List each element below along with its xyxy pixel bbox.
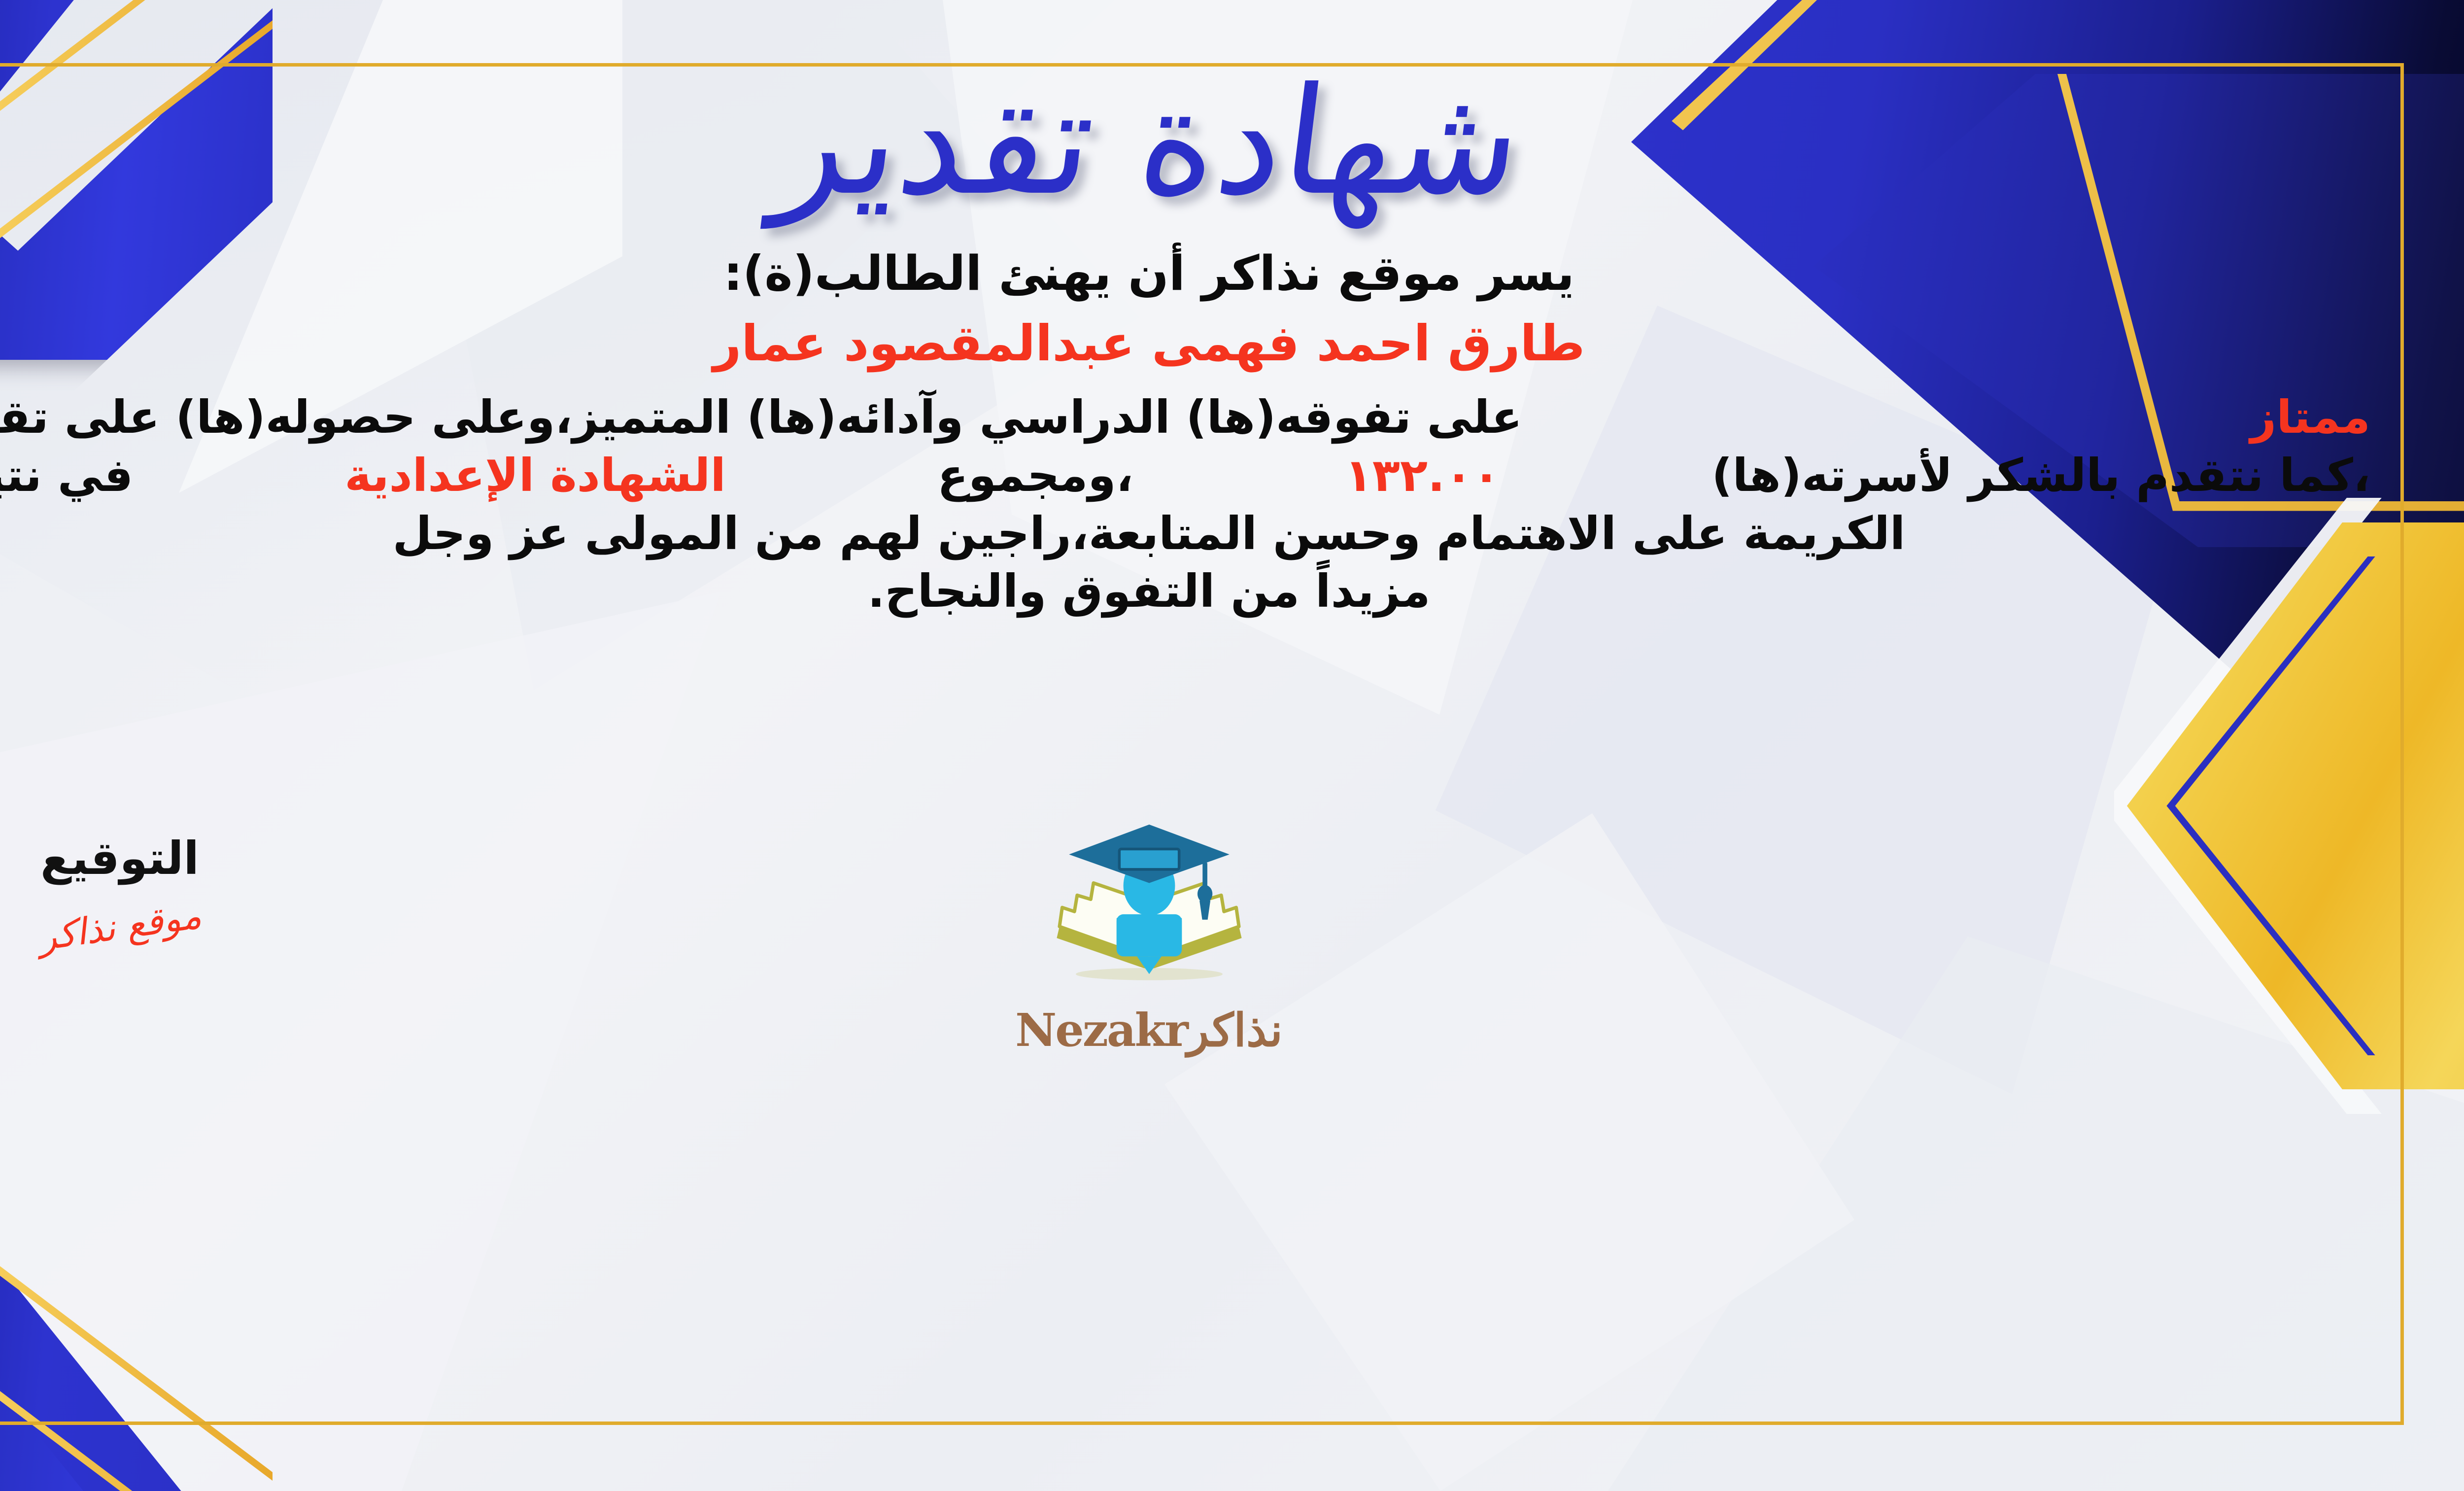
lead-line: يسر موقع نذاكر أن يهنئ الطالب(ة): [0, 245, 2390, 301]
grade-value: ممتاز [2250, 388, 2370, 447]
certificate-canvas: شهادة تقدير يسر موقع نذاكر أن يهنئ الطال… [0, 0, 2464, 1491]
body-line-1-text: على تفوقه(ها) الدراسي وآدائه(ها) المتميز… [0, 388, 1522, 447]
body-line-1: ممتاز على تفوقه(ها) الدراسي وآدائه(ها) ا… [0, 388, 2370, 447]
gold-accent-tick [2401, 507, 2404, 635]
brand-logo: نذاكرNezakr [0, 812, 2390, 1057]
certificate-type-value: الشهادة الإعدادية [344, 447, 726, 505]
certificate-content: شهادة تقدير يسر موقع نذاكر أن يهنئ الطال… [0, 63, 2390, 1422]
gold-accent-tick [2401, 1040, 2404, 1198]
body-line-2-right: في نتيجة [0, 447, 133, 505]
body-line-4: مزيداً من التفوق والنجاح. [0, 562, 2370, 621]
body-line-2-mid: ،ومجموع [937, 447, 1133, 505]
student-name: طارق احمد فهمى عبدالمقصود عمار [0, 314, 2390, 372]
body-paragraph: ممتاز على تفوقه(ها) الدراسي وآدائه(ها) ا… [0, 388, 2390, 621]
certificate-title: شهادة تقدير [0, 68, 2399, 216]
body-line-2-left: ،كما نتقدم بالشكر لأسرته(ها) [1711, 447, 2370, 505]
total-score-value: ١٣٢.٠٠ [1345, 447, 1501, 505]
logo-latin-text: Nezakr [1015, 1004, 1187, 1057]
body-line-2: ،كما نتقدم بالشكر لأسرته(ها) ١٣٢.٠٠ ،ومج… [0, 447, 2370, 505]
body-line-3: الكريمة على الاهتمام وحسن المتابعة،راجين… [0, 505, 2370, 563]
logo-artwork [1046, 812, 1253, 1009]
logo-wordmark: نذاكرNezakr [1015, 1004, 1283, 1057]
logo-arabic-text: نذاكر [1187, 1004, 1283, 1057]
